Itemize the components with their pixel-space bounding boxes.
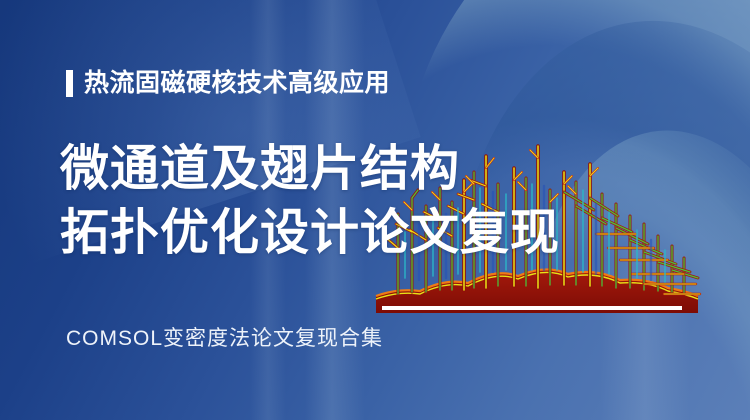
accent-bar-icon [66, 70, 73, 97]
page-title-line-1: 微通道及翅片结构 [60, 138, 560, 202]
page-title: 微通道及翅片结构 拓扑优化设计论文复现 [60, 138, 560, 265]
eyebrow-text: 热流固磁硬核技术高级应用 [84, 71, 390, 96]
simulation-baseline [382, 306, 682, 310]
course-banner: 热流固磁硬核技术高级应用 微通道及翅片结构 拓扑优化设计论文复现 COMSOL变… [0, 0, 750, 420]
subtitle-caption: COMSOL变密度法论文复现合集 [66, 328, 383, 349]
page-title-line-2: 拓扑优化设计论文复现 [60, 202, 560, 266]
eyebrow: 热流固磁硬核技术高级应用 [66, 70, 390, 97]
